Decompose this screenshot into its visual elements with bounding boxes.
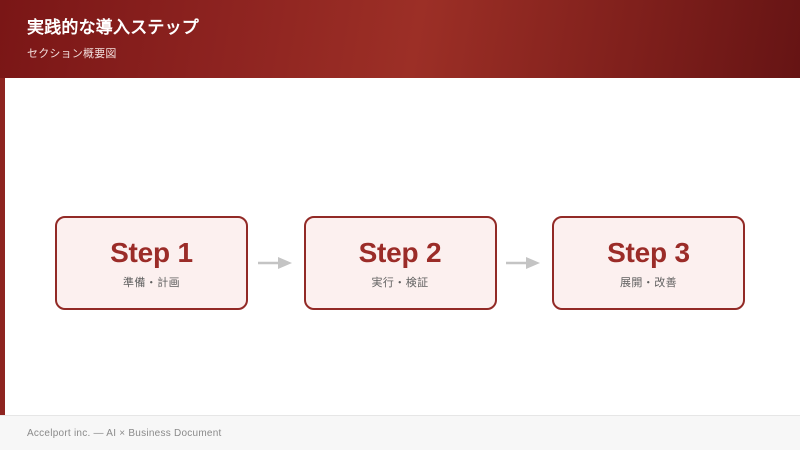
step-card-3[interactable]: Step 3 展開・改善 bbox=[552, 216, 745, 310]
page-subtitle: セクション概要図 bbox=[27, 47, 800, 61]
step-card-3-caption: 展開・改善 bbox=[620, 276, 677, 290]
process-flow-diagram: Step 1 準備・計画 Step 2 実行・検証 Step 3 展開・改善 bbox=[55, 216, 745, 310]
slide-header: 実践的な導入ステップ セクション概要図 bbox=[0, 0, 800, 78]
arrow-right-icon-2 bbox=[503, 254, 545, 272]
page-title: 実践的な導入ステップ bbox=[27, 18, 800, 38]
step-card-1[interactable]: Step 1 準備・計画 bbox=[55, 216, 248, 310]
step-card-2[interactable]: Step 2 実行・検証 bbox=[304, 216, 497, 310]
step-card-1-title: Step 1 bbox=[110, 237, 193, 269]
step-card-2-caption: 実行・検証 bbox=[372, 276, 429, 290]
step-card-2-title: Step 2 bbox=[359, 237, 442, 269]
slide-footer: Accelport inc. — AI × Business Document bbox=[0, 415, 800, 450]
step-card-3-title: Step 3 bbox=[607, 237, 690, 269]
slide-canvas: 実践的な導入ステップ セクション概要図 Step 1 準備・計画 Step 2 … bbox=[0, 0, 800, 450]
step-card-1-caption: 準備・計画 bbox=[123, 276, 180, 290]
arrow-right-icon-1 bbox=[255, 254, 297, 272]
footer-credit: Accelport inc. — AI × Business Document bbox=[27, 428, 222, 440]
